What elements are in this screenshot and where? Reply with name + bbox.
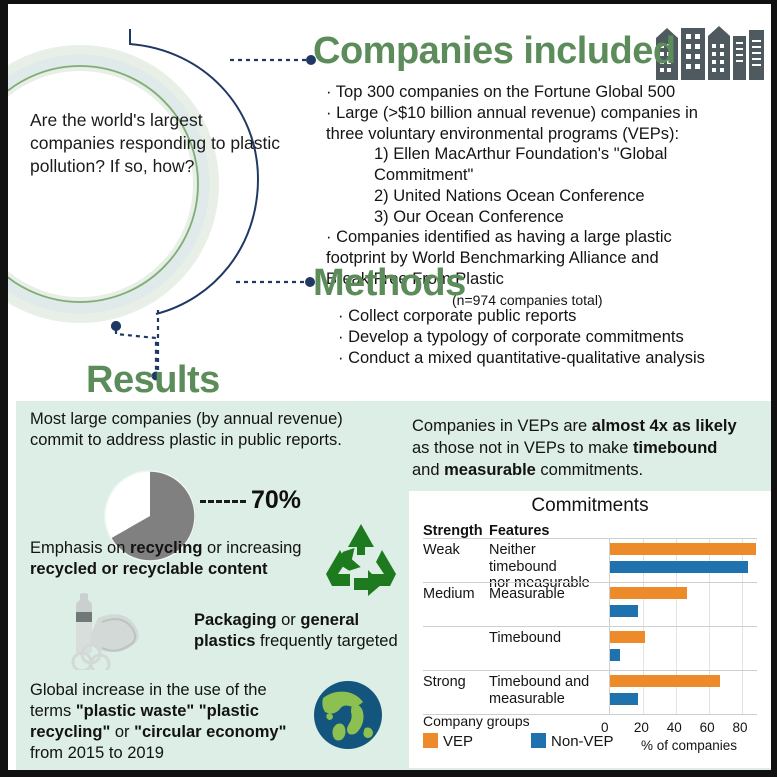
row-separator [423, 538, 757, 539]
lead-d: timebound [633, 439, 717, 457]
bullet: · Conduct a mixed quantitative-qualitati… [338, 348, 758, 369]
plastic-waste-icon [52, 592, 164, 670]
x-tick-label: 60 [700, 720, 715, 735]
global-g: from 2015 to 2019 [30, 744, 164, 762]
bullet: · Large (>$10 billion annual revenue) co… [326, 103, 756, 124]
global-f: "circular economy" [134, 723, 286, 741]
row-feature-label: Neither timeboundnor measurable [489, 542, 607, 592]
chart-bar [610, 561, 748, 573]
row-feature-label: Timebound [489, 630, 607, 647]
lead-a: Companies in VEPs are [412, 417, 592, 435]
global-b: terms [30, 702, 76, 720]
chart-bar [610, 675, 720, 687]
global-a: Global increase in the use of the [30, 681, 267, 699]
chart-column-headers: StrengthFeatures [423, 523, 763, 539]
numbered-item: 3) Our Ocean Conference [326, 207, 756, 228]
vep-lead-text: Companies in VEPs are almost 4x as likel… [412, 416, 762, 481]
row-separator [423, 582, 757, 583]
legend-label: Non-VEP [551, 733, 614, 750]
lead-b: almost 4x as likely [592, 417, 737, 435]
chart-bar [610, 587, 687, 599]
numbered-item: 2) United Nations Ocean Conference [326, 186, 756, 207]
recycling-text-b: recycling [130, 539, 202, 557]
legend-item[interactable]: VEP [423, 733, 473, 750]
research-question: Are the world's largest companies respon… [30, 109, 280, 178]
row-strength-label: Weak [423, 542, 460, 558]
bullet: three voluntary environmental programs (… [326, 124, 756, 145]
packaging-d: plastics [194, 632, 255, 650]
stat-text-line2: commit to address plastic in public repo… [30, 430, 400, 451]
chart-bar [610, 605, 638, 617]
bullet: · Companies identified as having a large… [326, 227, 756, 248]
chart-title: Commitments [409, 495, 771, 517]
results-left-column: Most large companies (by annual revenue)… [30, 409, 400, 451]
recycling-text: Emphasis on recycling or increasing recy… [30, 538, 320, 580]
bullet: · Top 300 companies on the Fortune Globa… [326, 82, 756, 103]
commitments-chart: Commitments StrengthFeatures WeakNeither… [409, 491, 771, 768]
bullet: · Develop a typology of corporate commit… [338, 327, 758, 348]
legend-item[interactable]: Non-VEP [531, 733, 614, 750]
stat-text-line1: Most large companies (by annual revenue) [30, 409, 400, 430]
legend-label: VEP [443, 733, 473, 750]
numbered-item: 1) Ellen MacArthur Foundation's "Global … [326, 144, 756, 186]
x-tick-label: 80 [733, 720, 748, 735]
globe-icon [313, 680, 383, 750]
col-header-features: Features [489, 523, 549, 539]
lead-f: measurable [444, 461, 536, 479]
global-d: recycling" [30, 723, 110, 741]
pie-percent-label: 70% [251, 486, 301, 515]
row-separator [423, 670, 757, 671]
heading-companies-included: Companies included [313, 30, 676, 73]
methods-bullet-list: · Collect corporate public reports · Dev… [338, 306, 758, 368]
chart-bar [610, 543, 756, 555]
heading-methods: Methods [313, 262, 466, 305]
lead-g: commitments. [536, 461, 643, 479]
lead-c: as those not in VEPs to make [412, 439, 633, 457]
packaging-text: Packaging or general plastics frequently… [194, 610, 404, 652]
lead-e: and [412, 461, 444, 479]
global-c: "plastic waste" "plastic [76, 702, 259, 720]
infographic-page: Are the world's largest companies respon… [0, 0, 777, 777]
legend-swatch [531, 733, 546, 748]
row-strength-label: Strong [423, 674, 466, 690]
recycle-icon [322, 522, 400, 596]
x-tick-label: 20 [634, 720, 649, 735]
row-separator [423, 626, 757, 627]
chart-legend: VEPNon-VEP [423, 733, 614, 750]
packaging-c: general [300, 611, 359, 629]
packaging-b: or [277, 611, 301, 629]
bullet: · Collect corporate public reports [338, 306, 758, 327]
packaging-e: frequently targeted [255, 632, 397, 650]
global-terms-text: Global increase in the use of the terms … [30, 680, 310, 764]
heading-results: Results [86, 359, 220, 402]
packaging-a: Packaging [194, 611, 277, 629]
col-header-strength: Strength [423, 523, 489, 539]
x-axis-title: % of companies [609, 738, 769, 753]
pie-leader-line [200, 500, 246, 505]
chart-bar [610, 649, 620, 661]
global-e: or [110, 723, 134, 741]
recycling-text-c: or increasing [202, 539, 301, 557]
recycling-text-a: Emphasis on [30, 539, 130, 557]
chart-bar [610, 693, 638, 705]
recycling-text-line2: recycled or recyclable content [30, 560, 268, 578]
chart-bar [610, 631, 645, 643]
x-tick-label: 40 [667, 720, 682, 735]
row-feature-label: Measurable [489, 586, 607, 603]
row-strength-label: Medium [423, 586, 475, 602]
row-feature-label: Timebound andmeasurable [489, 674, 607, 707]
legend-title: Company groups [423, 713, 530, 729]
legend-swatch [423, 733, 438, 748]
